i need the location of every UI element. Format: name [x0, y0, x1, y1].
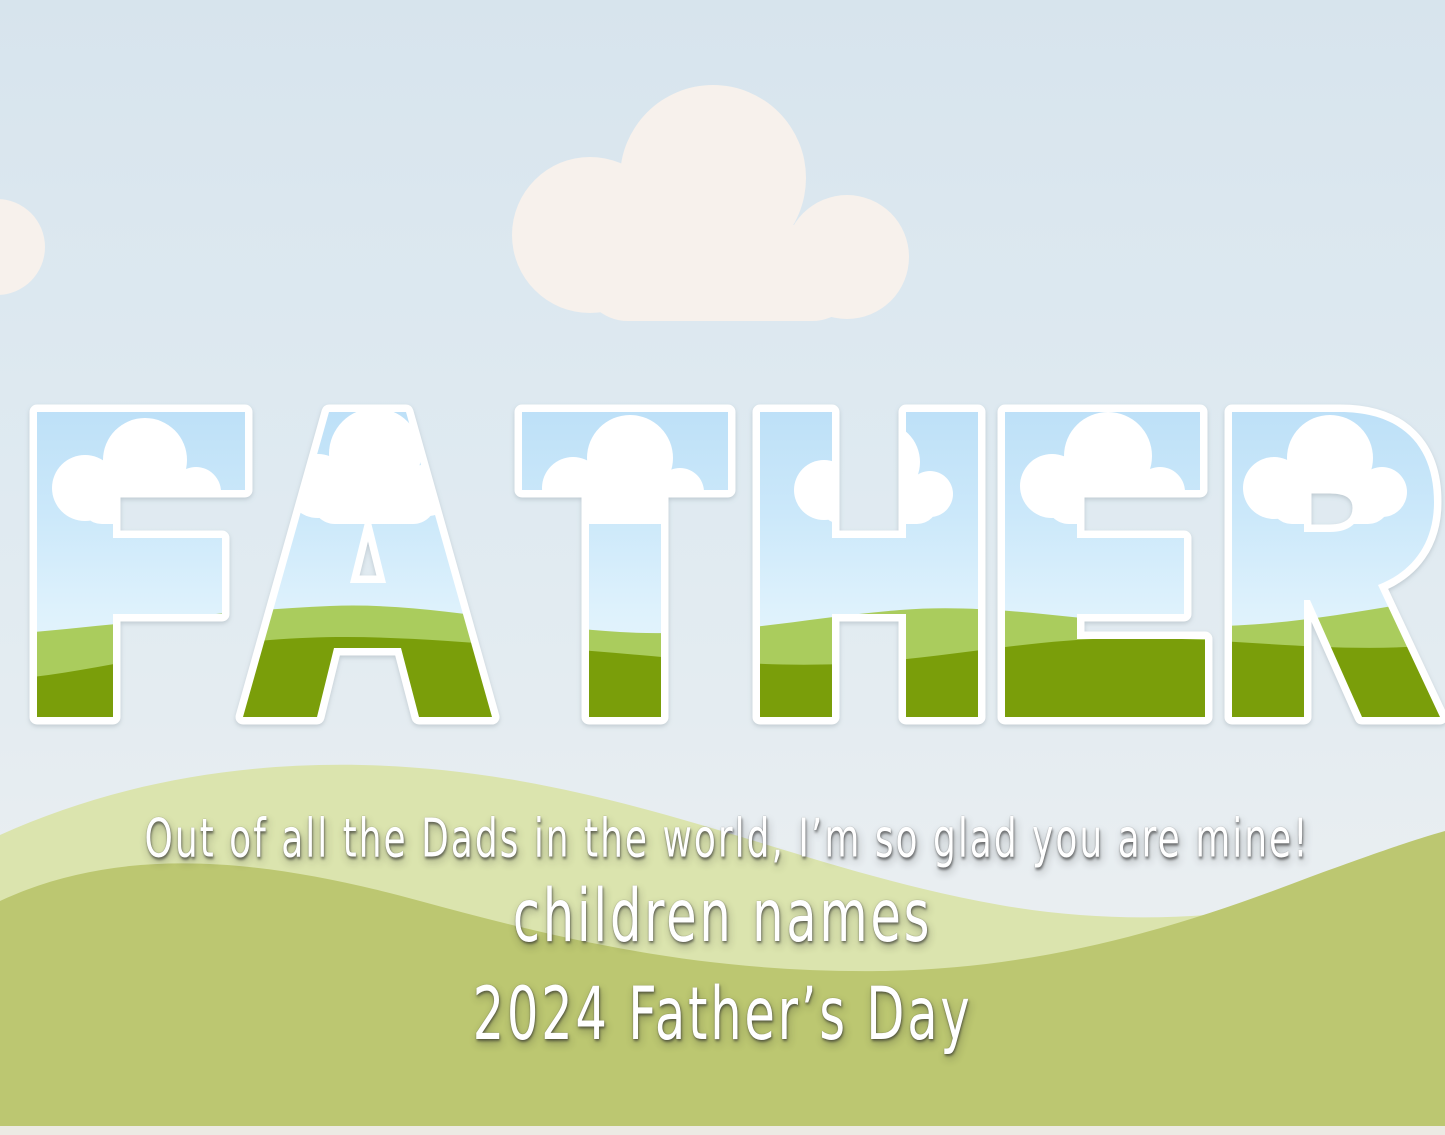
bottom-strip [0, 1126, 1445, 1135]
fathers-day-card: Out of all the Dads in the world, I’m so… [0, 0, 1445, 1135]
letter-landscape-fill [0, 392, 1445, 737]
year-occasion-line: 2024 Father’s Day [145, 955, 1301, 1073]
card-message-block: Out of all the Dads in the world, I’m so… [0, 810, 1445, 1064]
title-word-father [0, 392, 1445, 737]
father-letters-svg [0, 392, 1445, 737]
